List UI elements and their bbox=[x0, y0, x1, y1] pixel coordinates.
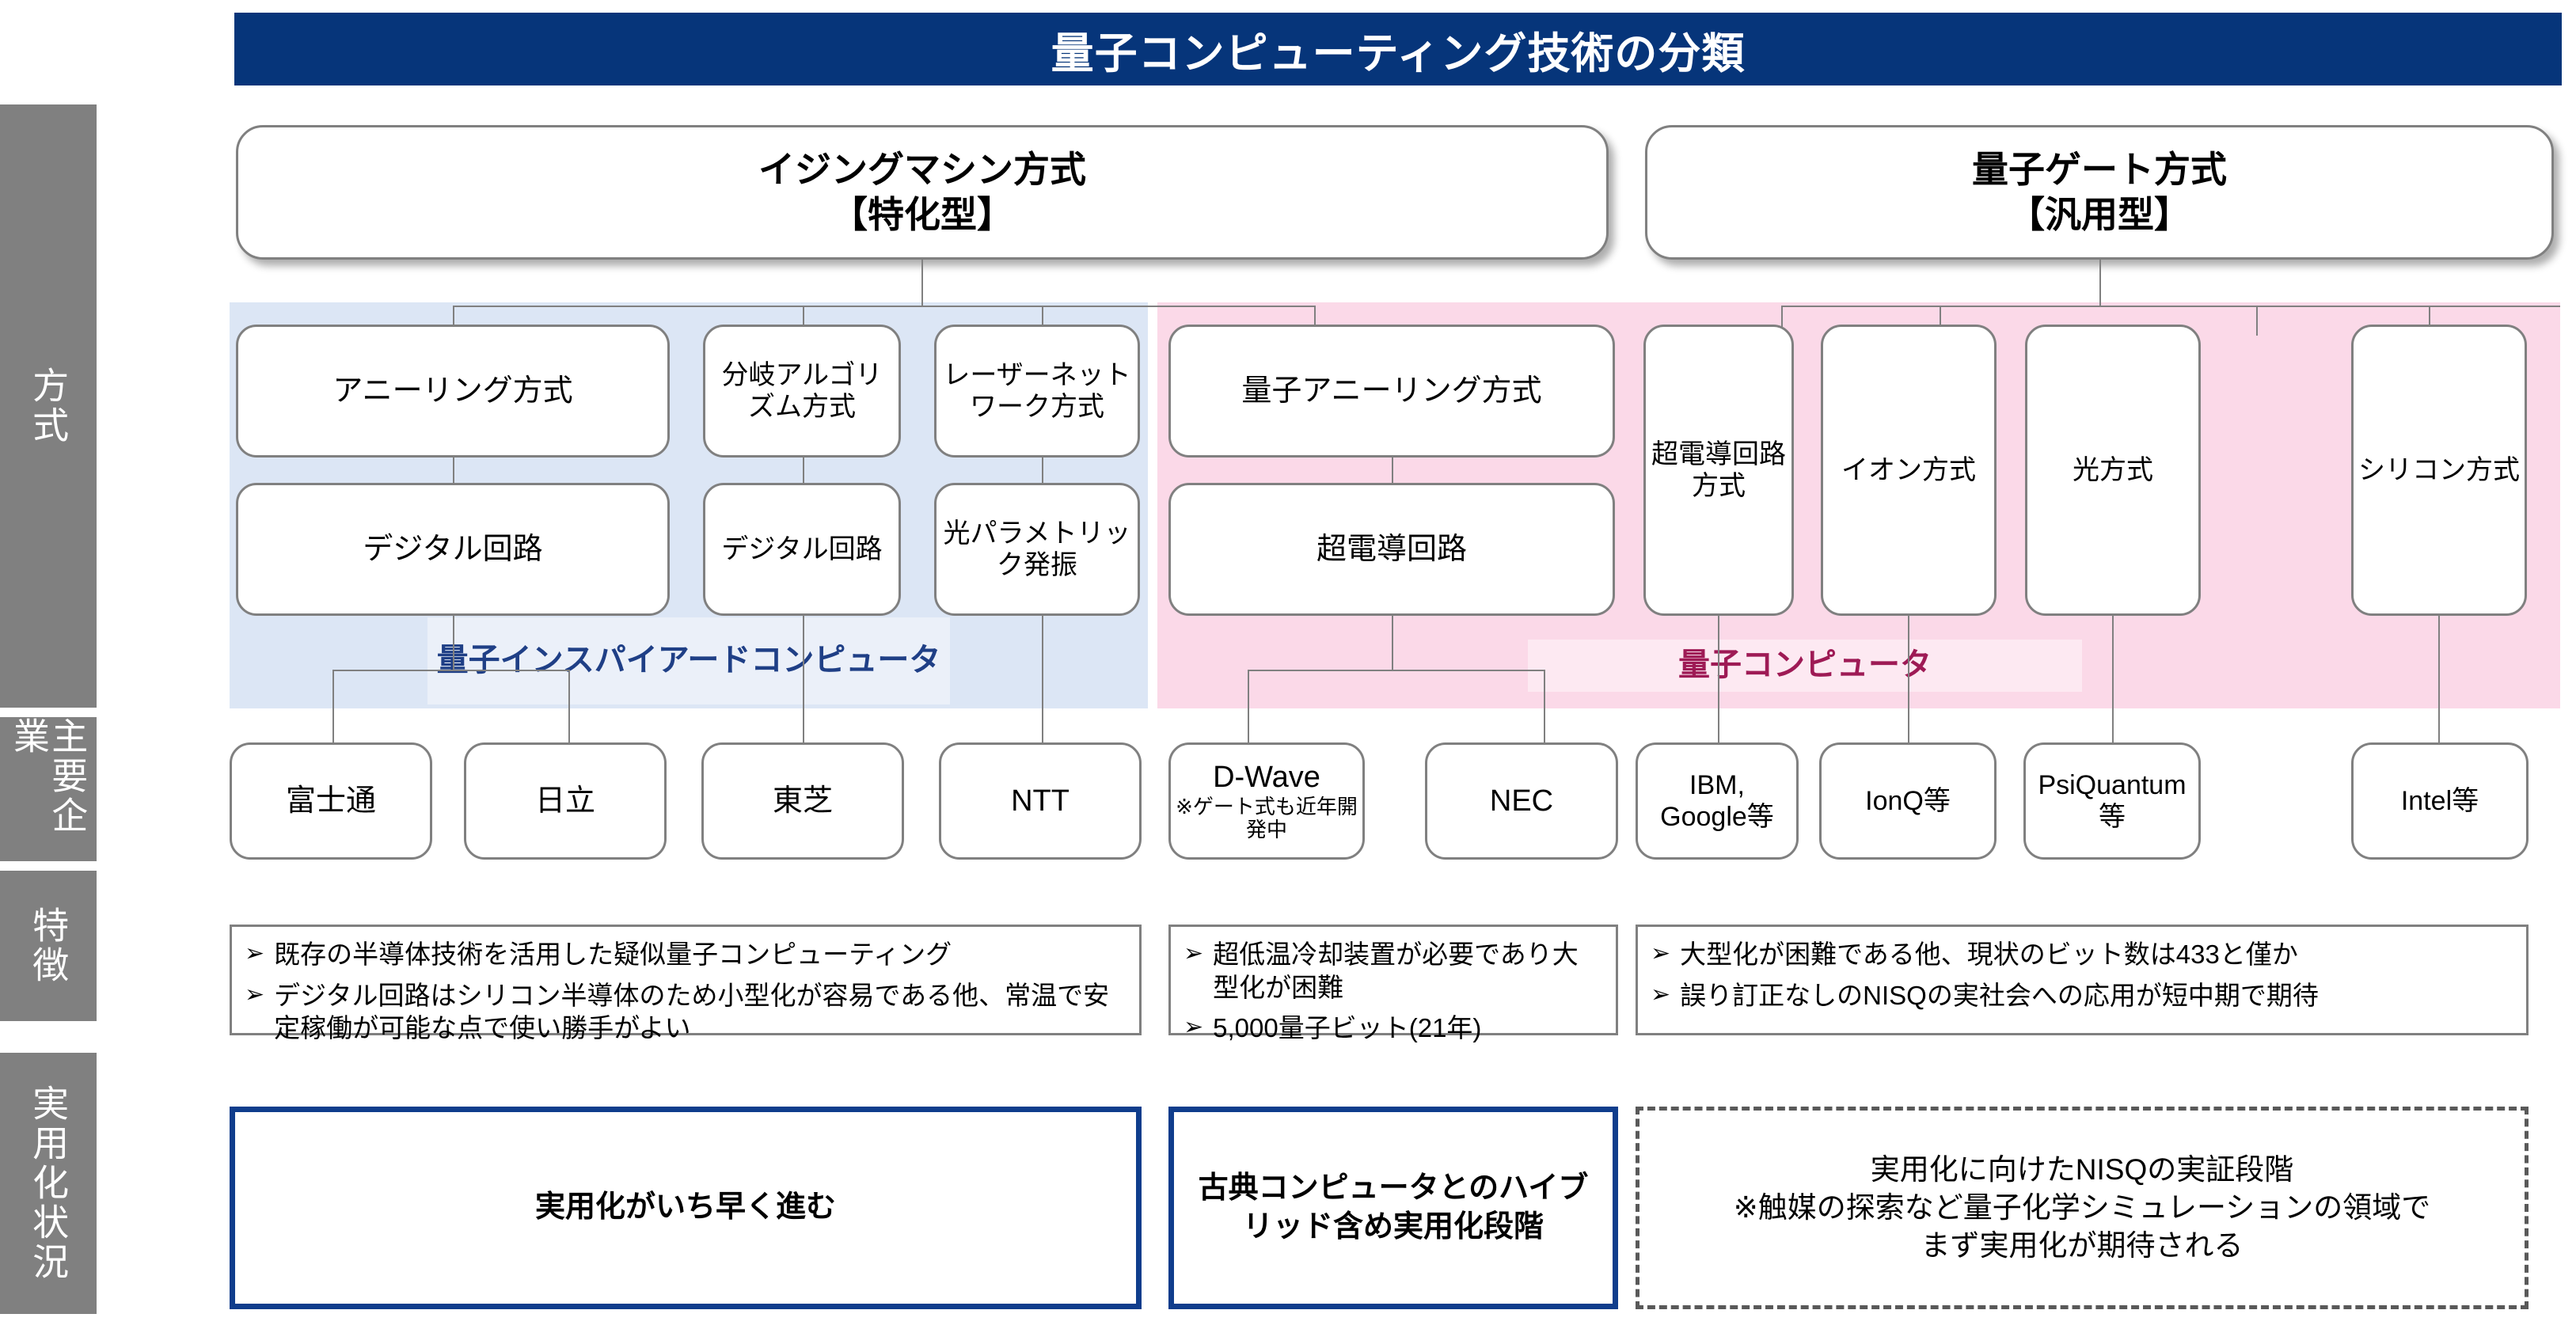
status-gate-line1: 実用化に向けたNISQの実証段階 bbox=[1734, 1151, 2431, 1189]
feature-text: 5,000量子ビット(21年) bbox=[1213, 1012, 1603, 1045]
connector-company-ntt bbox=[1042, 616, 1043, 742]
status-panel-ising: 実用化がいち早く進む bbox=[230, 1107, 1142, 1309]
category-ising-line2: 【特化型】 bbox=[758, 192, 1086, 238]
connector-annealing-vert bbox=[453, 458, 454, 483]
connector-laser-vert bbox=[1042, 458, 1043, 483]
row-label-status: 実用化状況 bbox=[0, 1053, 97, 1314]
feature-panel-annealing: ➢ 超低温冷却装置が必要であり大型化が困難 ➢ 5,000量子ビット(21年) bbox=[1168, 925, 1618, 1035]
category-ising-line1: イジングマシン方式 bbox=[758, 147, 1086, 193]
bullet-icon: ➢ bbox=[245, 938, 264, 971]
company-box-psiquantum[interactable]: PsiQuantum等 bbox=[2023, 742, 2201, 860]
bullet-icon: ➢ bbox=[1651, 938, 1670, 971]
connector-ising-company-trunk bbox=[453, 616, 454, 670]
company-box-hitachi[interactable]: 日立 bbox=[464, 742, 667, 860]
status-gate-line3: まず実用化が期待される bbox=[1734, 1227, 2431, 1265]
company-dwave-name: D-Wave bbox=[1213, 760, 1320, 796]
company-box-intel[interactable]: Intel等 bbox=[2351, 742, 2529, 860]
method-box-laser-bottom[interactable]: 光パラメトリック発振 bbox=[934, 483, 1140, 616]
method-box-branch-bottom[interactable]: デジタル回路 bbox=[703, 483, 901, 616]
company-box-toshiba[interactable]: 東芝 bbox=[701, 742, 904, 860]
company-box-ntt[interactable]: NTT bbox=[939, 742, 1142, 860]
status-panel-annealing: 古典コンピュータとのハイブリッド含め実用化段階 bbox=[1168, 1107, 1618, 1309]
row-label-features-text: 特徴 bbox=[29, 906, 67, 985]
feature-text: デジタル回路はシリコン半導体のため小型化が容易である他、常温で安定稼働が可能な点… bbox=[274, 979, 1127, 1045]
connector-company-toshiba bbox=[803, 616, 804, 742]
connector-ising-trunk bbox=[921, 260, 923, 306]
category-gate-line1: 量子ゲート方式 bbox=[1972, 147, 2227, 193]
method-box-quantum-annealing-bottom[interactable]: 超電導回路 bbox=[1168, 483, 1615, 616]
row-label-companies-text: 主要企業 bbox=[10, 717, 87, 861]
feature-item: ➢ 超低温冷却装置が必要であり大型化が困難 bbox=[1184, 938, 1603, 1004]
feature-item: ➢ 大型化が困難である他、現状のビット数は433と僅か bbox=[1651, 938, 2513, 971]
category-gate-line2: 【汎用型】 bbox=[1972, 192, 2227, 238]
method-box-annealing-top[interactable]: アニーリング方式 bbox=[236, 325, 670, 458]
connector-company-psiquantum bbox=[2112, 616, 2114, 742]
status-panel-gate: 実用化に向けたNISQの実証段階 ※触媒の探索など量子化学シミュレーションの領域… bbox=[1636, 1107, 2529, 1309]
page-title: 量子コンピューティング技術の分類 bbox=[234, 13, 2562, 85]
method-box-ion[interactable]: イオン方式 bbox=[1821, 325, 1997, 616]
connector-ising-bus bbox=[453, 306, 1316, 307]
company-box-ibm[interactable]: IBM, Google等 bbox=[1636, 742, 1799, 860]
method-box-branch-top[interactable]: 分岐アルゴリズム方式 bbox=[703, 325, 901, 458]
row-label-features: 特徴 bbox=[0, 871, 97, 1021]
feature-text: 誤り訂正なしのNISQの実社会への応用が短中期で期待 bbox=[1680, 979, 2513, 1012]
method-box-photonic[interactable]: 光方式 bbox=[2025, 325, 2201, 616]
connector-quantum-annealing-vert bbox=[1392, 458, 1393, 483]
connector-company-ibm bbox=[1718, 616, 1719, 742]
status-gate-line2: ※触媒の探索など量子化学シミュレーションの領域で bbox=[1734, 1189, 2431, 1227]
feature-item: ➢ 誤り訂正なしのNISQの実社会への応用が短中期で期待 bbox=[1651, 979, 2513, 1012]
bullet-icon: ➢ bbox=[1184, 938, 1203, 1004]
row-label-companies: 主要企業 bbox=[0, 717, 97, 861]
connector-company-dwave bbox=[1248, 670, 1249, 742]
company-box-ionq[interactable]: IonQ等 bbox=[1819, 742, 1997, 860]
feature-item: ➢ デジタル回路はシリコン半導体のため小型化が容易である他、常温で安定稼働が可能… bbox=[245, 979, 1127, 1045]
connector-company-nec bbox=[1544, 670, 1545, 742]
connector-gate-drop-3 bbox=[2256, 306, 2258, 336]
method-box-annealing-bottom[interactable]: デジタル回路 bbox=[236, 483, 670, 616]
connector-gate-company-trunk bbox=[1392, 616, 1393, 670]
row-label-status-text: 実用化状況 bbox=[29, 1084, 67, 1282]
feature-text: 大型化が困難である他、現状のビット数は433と僅か bbox=[1680, 938, 2513, 971]
connector-company-intel bbox=[2438, 616, 2440, 742]
company-box-nec[interactable]: NEC bbox=[1425, 742, 1618, 860]
category-box-ising[interactable]: イジングマシン方式 【特化型】 bbox=[236, 125, 1609, 260]
connector-gate-bus bbox=[1781, 306, 2560, 307]
connector-company-fujitsu bbox=[332, 670, 334, 742]
company-dwave-note: ※ゲート式も近年開発中 bbox=[1176, 796, 1358, 843]
feature-text: 超低温冷却装置が必要であり大型化が困難 bbox=[1213, 938, 1603, 1004]
connector-branch-vert bbox=[803, 458, 804, 483]
connector-company-hitachi bbox=[568, 670, 570, 742]
method-box-silicon[interactable]: シリコン方式 bbox=[2351, 325, 2527, 616]
method-box-laser-top[interactable]: レーザーネットワーク方式 bbox=[934, 325, 1140, 458]
connector-gate-trunk bbox=[2099, 260, 2101, 306]
connector-ising-company-bus bbox=[332, 670, 570, 671]
feature-item: ➢ 5,000量子ビット(21年) bbox=[1184, 1012, 1603, 1045]
family-caption-inspired: 量子インスパイアードコンピュータ bbox=[427, 617, 950, 704]
family-caption-quantum: 量子コンピュータ bbox=[1528, 640, 2082, 692]
bullet-icon: ➢ bbox=[1651, 979, 1670, 1012]
company-box-fujitsu[interactable]: 富士通 bbox=[230, 742, 432, 860]
row-label-method-text: 方式 bbox=[29, 366, 67, 446]
method-box-superconducting[interactable]: 超電導回路方式 bbox=[1643, 325, 1794, 616]
connector-gate-company-bus bbox=[1248, 670, 1545, 671]
bullet-icon: ➢ bbox=[245, 979, 264, 1045]
feature-item: ➢ 既存の半導体技術を活用した疑似量子コンピューティング bbox=[245, 938, 1127, 971]
feature-panel-gate: ➢ 大型化が困難である他、現状のビット数は433と僅か ➢ 誤り訂正なしのNIS… bbox=[1636, 925, 2529, 1035]
feature-panel-ising: ➢ 既存の半導体技術を活用した疑似量子コンピューティング ➢ デジタル回路はシリ… bbox=[230, 925, 1142, 1035]
feature-text: 既存の半導体技術を活用した疑似量子コンピューティング bbox=[274, 938, 1127, 971]
category-box-gate[interactable]: 量子ゲート方式 【汎用型】 bbox=[1645, 125, 2554, 260]
method-box-quantum-annealing-top[interactable]: 量子アニーリング方式 bbox=[1168, 325, 1615, 458]
connector-company-ionq bbox=[1908, 616, 1909, 742]
company-box-dwave[interactable]: D-Wave ※ゲート式も近年開発中 bbox=[1168, 742, 1365, 860]
bullet-icon: ➢ bbox=[1184, 1012, 1203, 1045]
row-label-method: 方式 bbox=[0, 104, 97, 708]
